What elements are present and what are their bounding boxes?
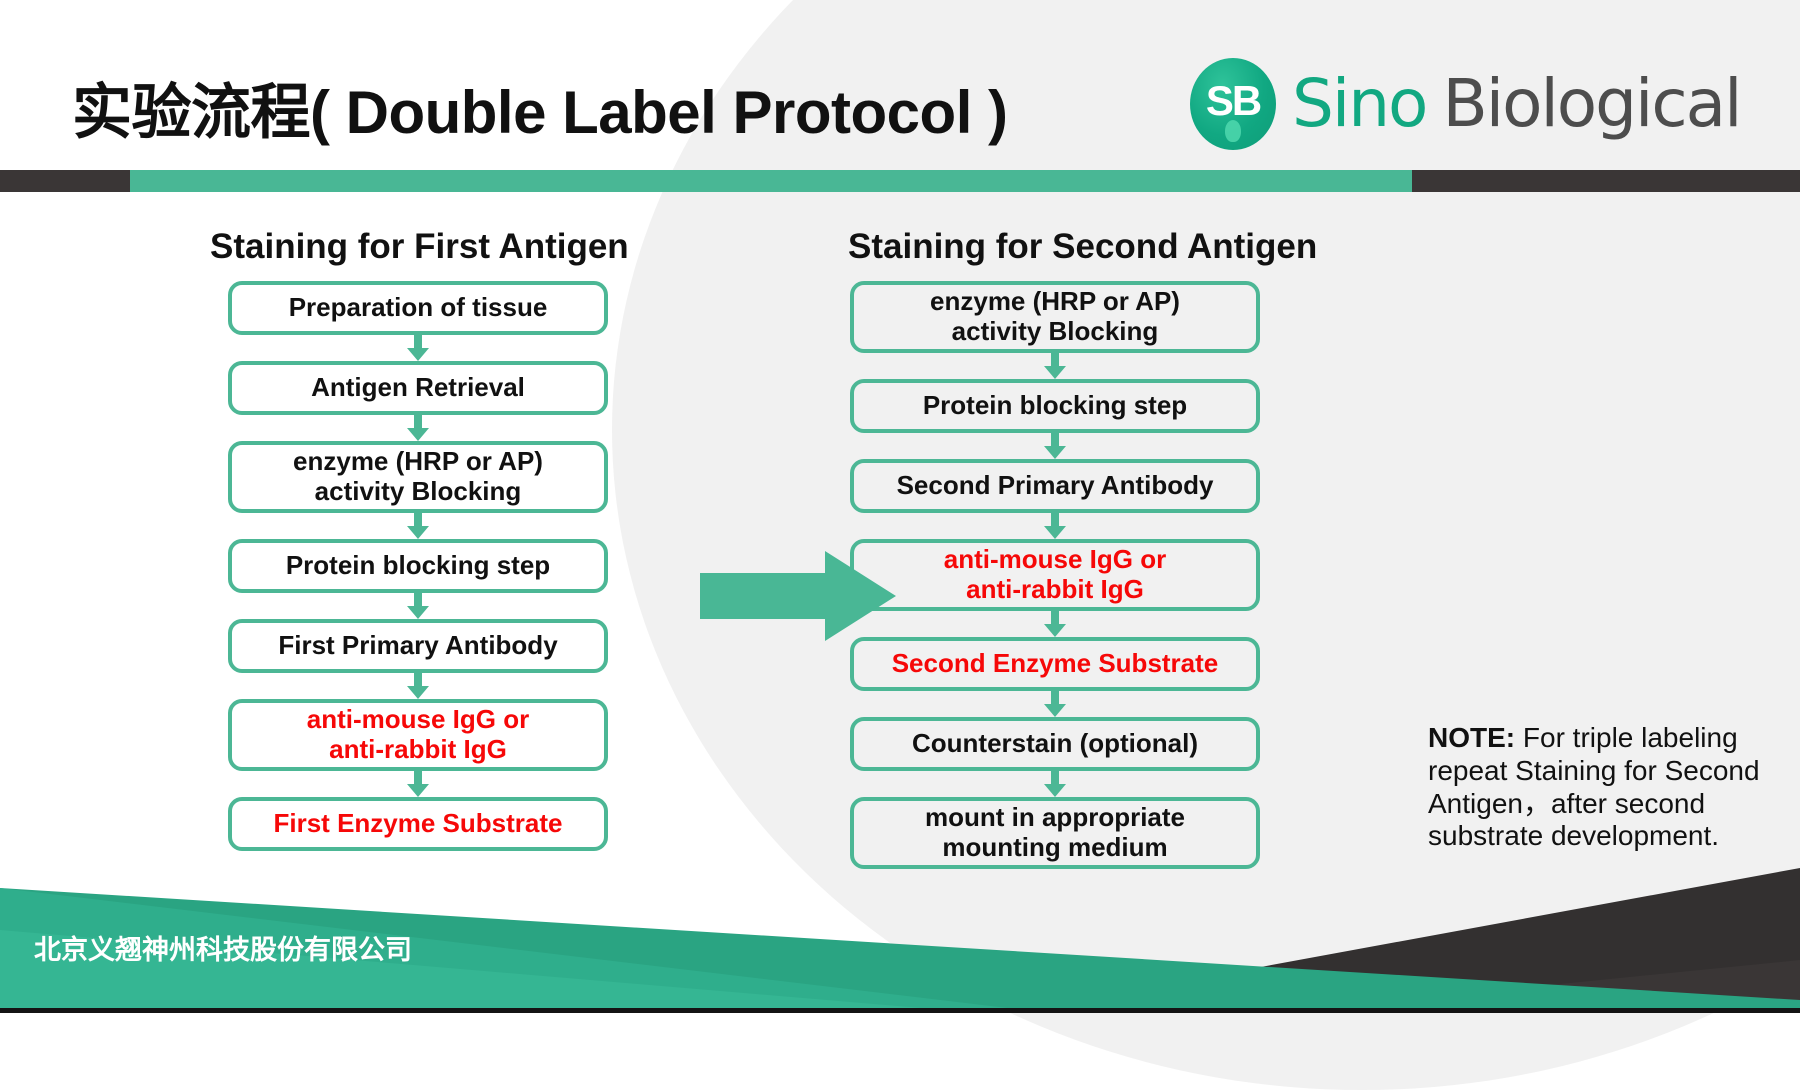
flow-step-label: Second Enzyme Substrate [892, 649, 1219, 678]
column-heading-first-antigen: Staining for First Antigen [210, 228, 608, 267]
note-text: NOTE: For triple labeling repeat Stainin… [1428, 722, 1778, 853]
flow-step-box[interactable]: First Enzyme Substrate [228, 797, 608, 851]
logo-wordmark: SinoBiological [1276, 71, 1740, 137]
header-rule-green [130, 170, 1412, 192]
header: 实验流程( Double Label Protocol ) SB SinoBio… [0, 0, 1800, 196]
column-heading-second-antigen: Staining for Second Antigen [848, 228, 1260, 267]
logo-badge-icon: SB [1190, 58, 1276, 150]
flow-step-box[interactable]: enzyme (HRP or AP)activity Blocking [850, 281, 1260, 353]
arrow-down-icon [850, 513, 1260, 539]
flow-step-label: Protein blocking step [286, 551, 550, 580]
logo-word-biological: Biological [1442, 65, 1740, 142]
brand-logo: SB SinoBiological [1190, 58, 1740, 150]
flow-step-label: First Enzyme Substrate [274, 809, 563, 838]
flow-step-label: Second Primary Antibody [897, 471, 1214, 500]
logo-word-sino: Sino [1292, 65, 1426, 142]
right-arrow-icon [700, 551, 896, 641]
flow-step-box[interactable]: First Primary Antibody [228, 619, 608, 673]
flow-step-box[interactable]: anti-mouse IgG oranti-rabbit IgG [228, 699, 608, 771]
flow-step-box[interactable]: anti-mouse IgG oranti-rabbit IgG [850, 539, 1260, 611]
flow-step-label: Antigen Retrieval [311, 373, 525, 402]
flow-step-box[interactable]: Protein blocking step [850, 379, 1260, 433]
arrow-down-icon [850, 691, 1260, 717]
page-title: 实验流程( Double Label Protocol ) [72, 64, 1008, 151]
flow-step-label: anti-mouse IgG oranti-rabbit IgG [944, 545, 1166, 603]
logo-badge-text: SB [1206, 80, 1260, 122]
footer-company-name: 北京义翘神州科技股份有限公司 [34, 928, 412, 967]
flow-step-label: enzyme (HRP or AP)activity Blocking [930, 287, 1180, 345]
flow-steps-second-antigen: enzyme (HRP or AP)activity BlockingProte… [850, 281, 1260, 869]
header-rule-dark-left [0, 170, 130, 192]
flow-step-label: mount in appropriatemounting medium [925, 803, 1185, 861]
flow-step-box[interactable]: Protein blocking step [228, 539, 608, 593]
flow-step-box[interactable]: Preparation of tissue [228, 281, 608, 335]
flow-step-box[interactable]: Second Enzyme Substrate [850, 637, 1260, 691]
flow-step-box[interactable]: Antigen Retrieval [228, 361, 608, 415]
flow-step-label: Preparation of tissue [289, 293, 548, 322]
flow-step-box[interactable]: enzyme (HRP or AP)activity Blocking [228, 441, 608, 513]
flow-step-label: First Primary Antibody [278, 631, 557, 660]
flow-step-label: Counterstain (optional) [912, 729, 1198, 758]
arrow-down-icon [228, 771, 608, 797]
arrow-down-icon [228, 415, 608, 441]
flow-step-box[interactable]: mount in appropriatemounting medium [850, 797, 1260, 869]
arrow-down-icon [228, 513, 608, 539]
column-second-antigen: Staining for Second Antigen enzyme (HRP … [850, 228, 1260, 869]
arrow-down-icon [228, 593, 608, 619]
column-first-antigen: Staining for First Antigen Preparation o… [228, 228, 608, 851]
arrow-down-icon [850, 611, 1260, 637]
flow-steps-first-antigen: Preparation of tissueAntigen Retrievalen… [228, 281, 608, 851]
flow-step-label: Protein blocking step [923, 391, 1187, 420]
flow-step-box[interactable]: Second Primary Antibody [850, 459, 1260, 513]
arrow-down-icon [850, 353, 1260, 379]
arrow-down-icon [228, 335, 608, 361]
header-rule-dark-right [1412, 170, 1800, 192]
flow-step-label: enzyme (HRP or AP)activity Blocking [293, 447, 543, 505]
arrow-down-icon [850, 771, 1260, 797]
arrow-down-icon [850, 433, 1260, 459]
logo-badge-dot-icon [1225, 120, 1241, 142]
note-prefix: NOTE: [1428, 722, 1515, 753]
flow-step-label: anti-mouse IgG oranti-rabbit IgG [307, 705, 529, 763]
arrow-down-icon [228, 673, 608, 699]
flow-step-box[interactable]: Counterstain (optional) [850, 717, 1260, 771]
